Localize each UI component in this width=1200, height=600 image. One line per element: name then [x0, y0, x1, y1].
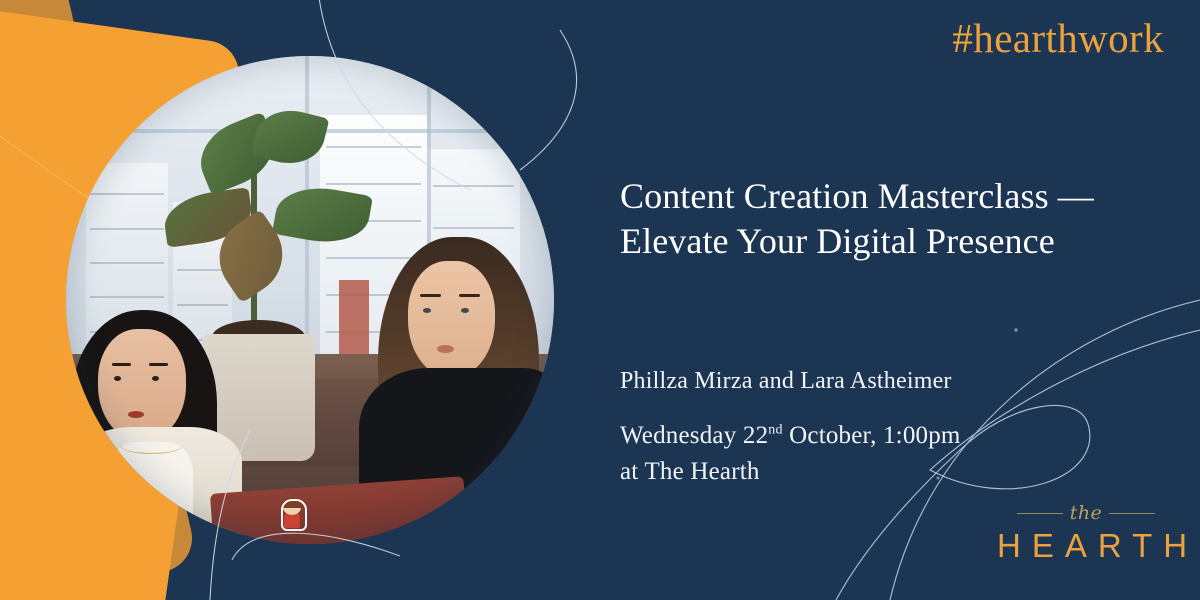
- event-banner: #hearthwork Content Creation Masterclass…: [0, 0, 1200, 600]
- laptop-sticker-icon: [281, 498, 303, 528]
- date-day: 22: [743, 422, 768, 449]
- person-right-face: [408, 261, 496, 378]
- logo-rule-left: [1017, 513, 1063, 514]
- date-day-suffix: nd: [768, 423, 782, 438]
- logo-rule-right: [1109, 513, 1155, 514]
- title-line-1: Content Creation Masterclass —: [620, 174, 1160, 219]
- date-weekday: Wednesday: [620, 422, 736, 449]
- logo-script-row: the: [986, 500, 1186, 526]
- event-time: 1:00pm: [883, 422, 961, 449]
- date-line: Wednesday 22nd October, 1:00pm: [620, 418, 961, 454]
- logo-wordmark: HEARTH: [986, 529, 1186, 564]
- building-accent: [339, 280, 368, 358]
- event-datetime: Wednesday 22nd October, 1:00pm at The He…: [620, 418, 961, 489]
- person-left-top: [110, 442, 193, 544]
- hearth-logo: the HEARTH: [986, 500, 1186, 564]
- logo-script-the: the: [1070, 504, 1103, 523]
- photo-content: [66, 56, 554, 544]
- page-title: Content Creation Masterclass — Elevate Y…: [620, 174, 1160, 263]
- venue-line: at The Hearth: [620, 454, 961, 490]
- speaker-names: Phillza Mirza and Lara Astheimer: [620, 368, 952, 395]
- title-line-2: Elevate Your Digital Presence: [620, 219, 1160, 264]
- person-left-necklace: [120, 437, 183, 454]
- person-left-face: [98, 329, 186, 441]
- hashtag: #hearthwork: [952, 14, 1164, 62]
- speaker-photo: [66, 56, 554, 544]
- date-month: October: [789, 422, 870, 449]
